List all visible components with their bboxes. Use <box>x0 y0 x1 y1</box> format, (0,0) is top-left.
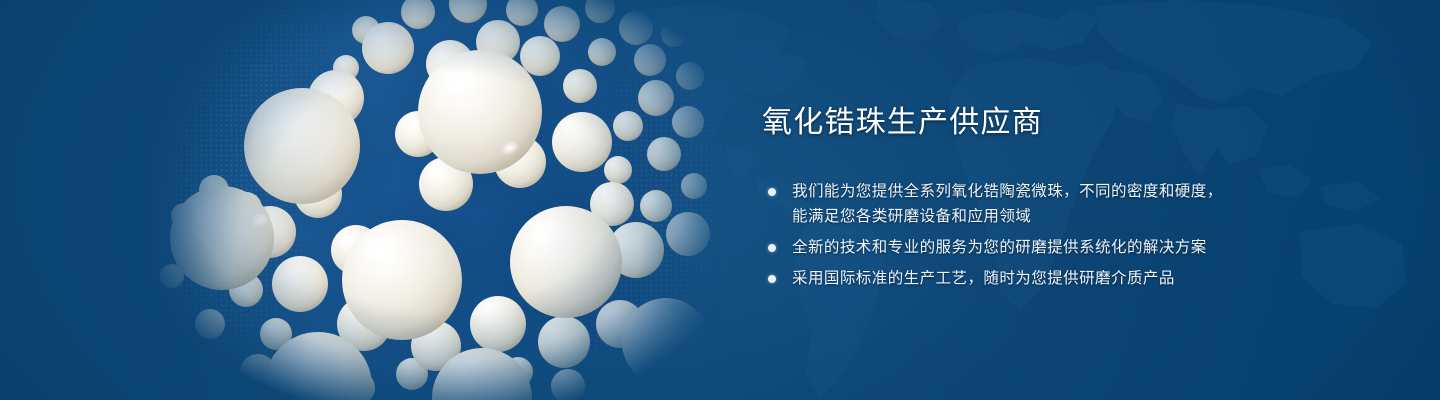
bullet-text-line: 全新的技术和专业的服务为您的研磨提供系统化的解决方案 <box>792 236 1402 260</box>
round-bullet-icon <box>768 275 776 283</box>
page-title: 氧化锆珠生产供应商 <box>762 104 1402 142</box>
hero-banner: 氧化锆珠生产供应商 我们能为您提供全系列氧化锆陶瓷微珠，不同的密度和硬度， 能满… <box>0 0 1440 400</box>
bullet-text-line: 采用国际标准的生产工艺，随时为您提供研磨介质产品 <box>792 267 1402 291</box>
banner-copy: 氧化锆珠生产供应商 我们能为您提供全系列氧化锆陶瓷微珠，不同的密度和硬度， 能满… <box>762 104 1402 291</box>
round-bullet-icon <box>768 188 776 196</box>
list-item: 全新的技术和专业的服务为您的研磨提供系统化的解决方案 <box>762 236 1402 260</box>
list-item: 采用国际标准的生产工艺，随时为您提供研磨介质产品 <box>762 267 1402 291</box>
zirconia-beads-photo <box>150 0 730 400</box>
bullet-text-line: 我们能为您提供全系列氧化锆陶瓷微珠，不同的密度和硬度， <box>792 180 1402 204</box>
halftone-texture <box>150 0 730 400</box>
round-bullet-icon <box>768 244 776 252</box>
list-item: 我们能为您提供全系列氧化锆陶瓷微珠，不同的密度和硬度， 能满足您各类研磨设备和应… <box>762 180 1402 229</box>
bullet-text-line: 能满足您各类研磨设备和应用领域 <box>792 205 1402 229</box>
feature-bullet-list: 我们能为您提供全系列氧化锆陶瓷微珠，不同的密度和硬度， 能满足您各类研磨设备和应… <box>762 180 1402 291</box>
